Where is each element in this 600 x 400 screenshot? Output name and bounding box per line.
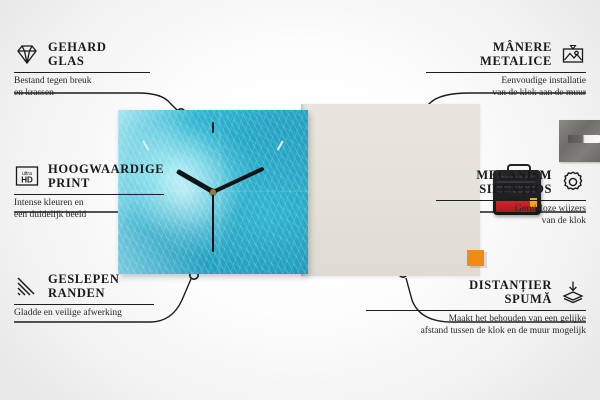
- divider: [14, 304, 154, 305]
- feature-distantier-spuma: DISTANȚIER SPUMĂ Maakt het behouden van …: [366, 278, 586, 337]
- feature-desc-line2: van de klok: [436, 216, 586, 228]
- ultra-hd-icon: ultra HD: [14, 163, 40, 189]
- svg-text:HD: HD: [21, 176, 33, 185]
- gear-icon: [560, 169, 586, 195]
- feature-desc-line1: Geruisloze wijzers: [436, 204, 586, 216]
- feature-title-line1: HOOGWAARDIGE: [48, 162, 164, 176]
- metal-hanger: [559, 120, 600, 162]
- feature-hoogwaardige-print: ultra HD HOOGWAARDIGE PRINT Intense kleu…: [14, 162, 164, 221]
- feature-title-line1: GESLEPEN: [48, 272, 120, 286]
- feature-title-line2: SPUMĂ: [469, 292, 552, 306]
- minute-hand: [212, 167, 264, 194]
- feature-mecanism-silentios: MECANISM SILENȚIOS Geruisloze wijzers va…: [436, 168, 586, 227]
- feature-desc-line1: Intense kleuren en: [14, 198, 164, 210]
- feature-title-line1: DISTANȚIER: [469, 278, 552, 292]
- divider: [426, 72, 586, 73]
- divider: [14, 72, 150, 73]
- feature-desc-line2: van de klok aan de muur: [426, 88, 586, 100]
- feature-desc-line1: Eenvoudige installatie: [426, 76, 586, 88]
- feature-title-line2: RANDEN: [48, 286, 120, 300]
- product-image: [118, 104, 480, 276]
- feature-desc-line2: en krassen: [14, 88, 150, 100]
- feature-desc-line1: Gladde en veilige afwerking: [14, 308, 154, 320]
- feature-title-line2: SILENȚIOS: [476, 182, 552, 196]
- feature-desc-line2: afstand tussen de klok en de muur mogeli…: [366, 326, 586, 338]
- diamond-icon: [14, 41, 40, 67]
- hand-pin: [210, 189, 216, 195]
- feature-desc-line2: een duidelijk beeld: [14, 210, 164, 222]
- diagonal-lines-icon: [14, 273, 40, 299]
- hour-hand: [175, 169, 214, 194]
- divider: [366, 310, 586, 311]
- hanger-slot: [568, 135, 600, 143]
- press-pad-icon: [560, 279, 586, 305]
- framed-picture-icon: [560, 41, 586, 67]
- second-hand: [212, 192, 214, 252]
- divider: [14, 194, 164, 195]
- infographic-canvas: GEHARD GLAS Bestand tegen breuk en krass…: [0, 0, 600, 400]
- feature-manere-metalice: MÂNERE METALICE Eenvoudige installatie v…: [426, 40, 586, 99]
- feature-desc-line1: Maakt het behouden van een gelijke: [366, 314, 586, 326]
- foam-spacer: [467, 250, 484, 266]
- feature-title-line2: GLAS: [48, 54, 106, 68]
- feature-title-line1: GEHARD: [48, 40, 106, 54]
- feature-geslepen-randen: GESLEPEN RANDEN Gladde en veilige afwerk…: [14, 272, 154, 320]
- feature-desc-line1: Bestand tegen breuk: [14, 76, 150, 88]
- divider: [436, 200, 586, 201]
- feature-title-line1: MÂNERE: [480, 40, 552, 54]
- feature-gehard-glas: GEHARD GLAS Bestand tegen breuk en krass…: [14, 40, 150, 99]
- feature-title-line2: METALICE: [480, 54, 552, 68]
- feature-title-line1: MECANISM: [476, 168, 552, 182]
- feature-title-line2: PRINT: [48, 176, 164, 190]
